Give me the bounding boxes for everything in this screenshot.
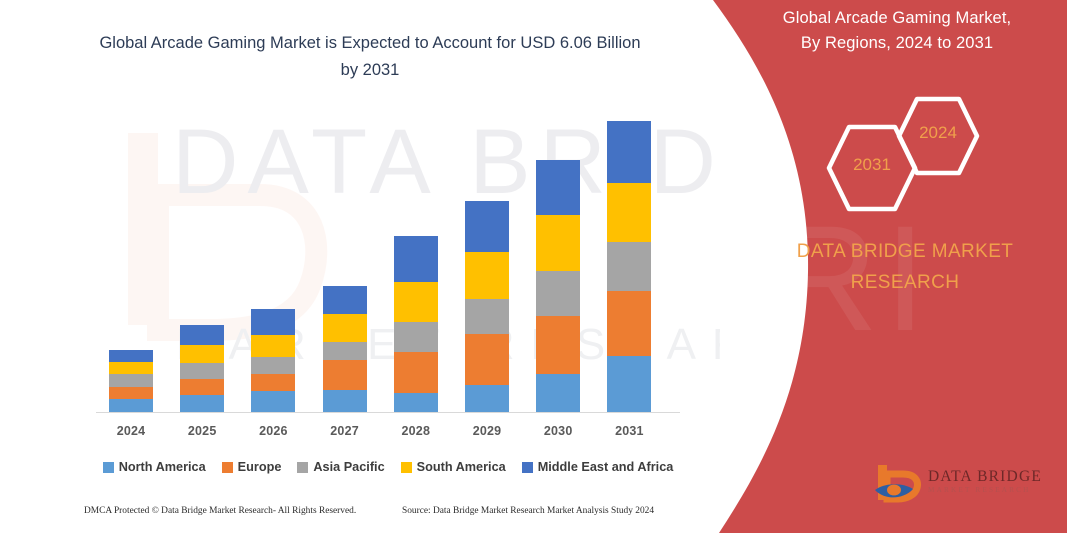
x-axis-label-2031: 2031 — [594, 424, 664, 438]
bar-segment-asia-pacific-2031 — [607, 242, 651, 291]
x-axis-label-2026: 2026 — [238, 424, 308, 438]
footer: DMCA Protected © Data Bridge Market Rese… — [0, 506, 712, 526]
panel-title-line1: Global Arcade Gaming Market, — [742, 6, 1052, 31]
x-axis-labels: 20242025202620272028202920302031 — [96, 424, 680, 444]
legend-item-asia-pacific[interactable]: Asia Pacific — [297, 460, 384, 474]
x-axis-label-2028: 2028 — [381, 424, 451, 438]
stacked-bar-chart — [96, 110, 680, 413]
bar-segment-south-america-2028 — [394, 282, 438, 322]
bar-2028 — [394, 236, 438, 412]
legend-label: South America — [417, 460, 506, 474]
panel-title-line2: By Regions, 2024 to 2031 — [742, 31, 1052, 56]
bar-segment-asia-pacific-2025 — [180, 363, 224, 379]
bar-2026 — [251, 309, 295, 412]
bar-segment-europe-2024 — [109, 387, 153, 399]
bar-segment-asia-pacific-2030 — [536, 271, 580, 316]
bar-segment-asia-pacific-2024 — [109, 374, 153, 388]
bar-segment-europe-2026 — [251, 374, 295, 391]
legend-item-europe[interactable]: Europe — [222, 460, 282, 474]
x-axis-label-2025: 2025 — [167, 424, 237, 438]
bar-segment-north-america-2027 — [323, 390, 367, 412]
bar-2029 — [465, 201, 509, 412]
bar-segment-europe-2025 — [180, 379, 224, 395]
logo-line-2: MARKET RESEARCH — [928, 485, 1052, 496]
legend-swatch-icon — [103, 462, 114, 473]
legend-item-middle-east-and-africa[interactable]: Middle East and Africa — [522, 460, 674, 474]
legend-item-north-america[interactable]: North America — [103, 460, 206, 474]
page-title: Global Arcade Gaming Market is Expected … — [92, 30, 648, 84]
hexagon-2024: 2024 — [896, 96, 980, 176]
legend-label: Europe — [238, 460, 282, 474]
bar-segment-europe-2028 — [394, 352, 438, 393]
panel-brand-line1: DATA BRIDGE MARKET — [760, 236, 1050, 267]
bar-2024 — [109, 350, 153, 412]
legend-swatch-icon — [222, 462, 233, 473]
infographic-root: DATA BRIDGE MARKET RESEARCH Global Arcad… — [0, 0, 1067, 533]
bar-segment-south-america-2025 — [180, 345, 224, 363]
bar-segment-north-america-2030 — [536, 374, 580, 412]
legend-label: Middle East and Africa — [538, 460, 674, 474]
hexagon-group: 2031 2024 — [820, 96, 1000, 216]
panel-brand: DATA BRIDGE MARKET RESEARCH — [760, 236, 1050, 298]
bar-segment-middle-east-and-africa-2026 — [251, 309, 295, 335]
bar-segment-middle-east-and-africa-2029 — [465, 201, 509, 252]
bar-2025 — [180, 325, 224, 412]
bar-2027 — [323, 286, 367, 412]
x-axis-line — [96, 412, 680, 413]
bar-segment-europe-2027 — [323, 360, 367, 390]
legend-swatch-icon — [522, 462, 533, 473]
bar-segment-south-america-2026 — [251, 335, 295, 357]
bar-segment-north-america-2031 — [607, 356, 651, 412]
bar-segment-asia-pacific-2027 — [323, 342, 367, 360]
x-axis-label-2029: 2029 — [452, 424, 522, 438]
bar-segment-europe-2029 — [465, 334, 509, 385]
bar-segment-north-america-2024 — [109, 399, 153, 412]
bar-segment-north-america-2028 — [394, 393, 438, 412]
legend-label: North America — [119, 460, 206, 474]
x-axis-label-2027: 2027 — [310, 424, 380, 438]
data-bridge-logo-text: DATA BRIDGE MARKET RESEARCH — [928, 468, 1052, 496]
hexagon-2024-label: 2024 — [896, 123, 980, 143]
x-axis-label-2030: 2030 — [523, 424, 593, 438]
bar-segment-middle-east-and-africa-2024 — [109, 350, 153, 362]
legend-label: Asia Pacific — [313, 460, 384, 474]
bar-segment-middle-east-and-africa-2025 — [180, 325, 224, 346]
bar-segment-north-america-2029 — [465, 385, 509, 412]
bar-segment-middle-east-and-africa-2027 — [323, 286, 367, 315]
bar-segment-south-america-2031 — [607, 183, 651, 242]
panel-brand-line2: RESEARCH — [760, 267, 1050, 298]
bar-segment-south-america-2029 — [465, 252, 509, 300]
footer-source: Source: Data Bridge Market Research Mark… — [402, 506, 654, 516]
bar-segment-south-america-2027 — [323, 314, 367, 341]
bar-segment-asia-pacific-2029 — [465, 299, 509, 333]
chart-legend: North AmericaEuropeAsia PacificSouth Ame… — [96, 456, 680, 478]
bar-segment-asia-pacific-2028 — [394, 322, 438, 352]
legend-swatch-icon — [297, 462, 308, 473]
data-bridge-logo-mark — [872, 462, 924, 508]
bar-segment-middle-east-and-africa-2028 — [394, 236, 438, 282]
legend-item-south-america[interactable]: South America — [401, 460, 506, 474]
data-bridge-logo: DATA BRIDGE MARKET RESEARCH — [872, 462, 1052, 510]
bar-2030 — [536, 160, 580, 412]
panel-title: Global Arcade Gaming Market, By Regions,… — [742, 6, 1052, 56]
bar-segment-asia-pacific-2026 — [251, 357, 295, 374]
x-axis-label-2024: 2024 — [96, 424, 166, 438]
bar-segment-middle-east-and-africa-2030 — [536, 160, 580, 215]
bar-segment-south-america-2024 — [109, 362, 153, 374]
bar-segment-middle-east-and-africa-2031 — [607, 121, 651, 184]
legend-swatch-icon — [401, 462, 412, 473]
bar-segment-north-america-2026 — [251, 391, 295, 412]
bar-segment-south-america-2030 — [536, 215, 580, 271]
footer-copyright: DMCA Protected © Data Bridge Market Rese… — [84, 506, 356, 516]
logo-line-1: DATA BRIDGE — [928, 468, 1052, 485]
bar-segment-north-america-2025 — [180, 395, 224, 412]
bar-segment-europe-2030 — [536, 316, 580, 373]
bar-2031 — [607, 121, 651, 412]
bar-segment-europe-2031 — [607, 291, 651, 355]
